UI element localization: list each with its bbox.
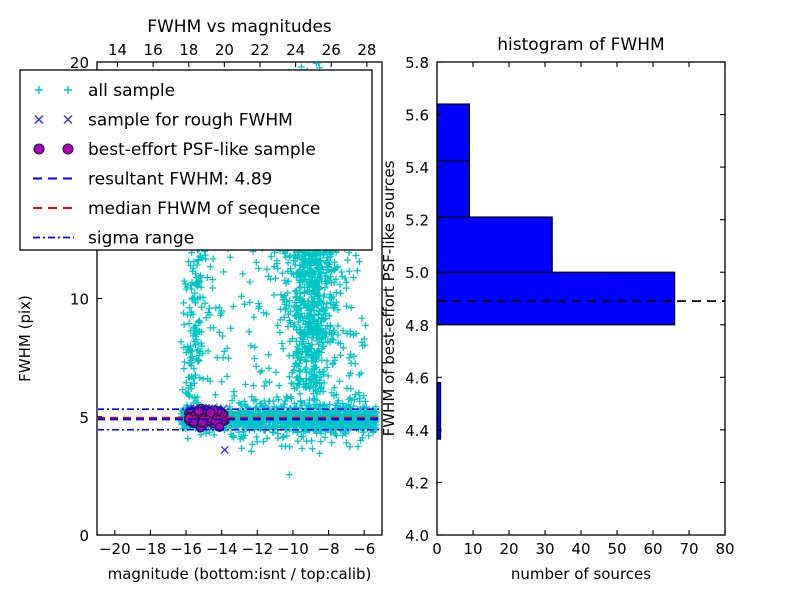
left-top-tick-label: 22 (250, 41, 269, 59)
right-y-tick-label: 4.0 (405, 527, 429, 545)
left-top-tick-label: 24 (286, 41, 305, 59)
histogram-bar (437, 104, 469, 160)
histogram-bar (437, 217, 552, 272)
right-x-tick-label: 80 (715, 540, 734, 558)
right-panel-title: histogram of FWHM (497, 35, 664, 55)
legend: all samplesample for rough FWHMbest-effo… (20, 70, 372, 250)
right-yaxis-label: FWHM of best-effort PSF-like sources (380, 160, 398, 436)
left-bottom-tick-label: −6 (353, 540, 375, 558)
right-x-tick-label: 60 (643, 540, 662, 558)
right-y-tick-label: 4.6 (405, 369, 429, 387)
left-bottom-tick-label: −12 (241, 540, 273, 558)
legend-item-label: best-effort PSF-like sample (88, 140, 316, 160)
right-x-tick-label: 70 (679, 540, 698, 558)
legend-item-label: sigma range (88, 229, 194, 249)
histogram-bar (437, 161, 469, 217)
legend-item-label: sample for rough FWHM (88, 111, 293, 131)
right-panel-histogram: 01020304050607080number of sources4.04.2… (380, 35, 735, 583)
right-y-tick-label: 4.4 (405, 422, 429, 440)
left-top-tick-label: 26 (322, 41, 341, 59)
left-bottom-tick-label: −10 (277, 540, 309, 558)
right-y-tick-label: 5.8 (405, 54, 429, 72)
matplotlib-figure: −20−18−16−14−12−10−8−6magnitude (bottom:… (0, 0, 800, 600)
right-y-tick-label: 4.2 (405, 474, 429, 492)
legend-marker-circle-icon (63, 144, 73, 154)
left-bottom-tick-label: −8 (318, 540, 340, 558)
left-bottom-tick-label: −18 (135, 540, 167, 558)
figure-canvas: −20−18−16−14−12−10−8−6magnitude (bottom:… (0, 0, 800, 600)
right-x-tick-label: 50 (607, 540, 626, 558)
right-x-tick-label: 20 (499, 540, 518, 558)
left-top-tick-label: 20 (215, 41, 234, 59)
right-x-tick-label: 0 (432, 540, 442, 558)
left-bottom-tick-label: −16 (170, 540, 202, 558)
left-top-tick-label: 28 (357, 41, 376, 59)
legend-box (20, 70, 372, 250)
left-top-tick-label: 16 (144, 41, 163, 59)
left-top-tick-label: 18 (179, 41, 198, 59)
left-bottom-tick-label: −14 (206, 540, 238, 558)
left-xaxis-label: magnitude (bottom:isnt / top:calib) (108, 565, 372, 583)
right-y-tick-label: 5.6 (405, 107, 429, 125)
left-bottom-tick-label: −20 (99, 540, 131, 558)
left-y-tick-label: 20 (70, 54, 89, 72)
right-x-tick-label: 40 (571, 540, 590, 558)
left-y-tick-label: 0 (79, 527, 89, 545)
right-y-tick-label: 4.8 (405, 317, 429, 335)
right-x-tick-label: 10 (463, 540, 482, 558)
left-y-tick-label: 5 (79, 409, 89, 427)
left-yaxis-label: FWHM (pix) (16, 295, 34, 382)
psf-sample-point (194, 407, 202, 415)
right-y-tick-label: 5.4 (405, 159, 429, 177)
right-x-tick-label: 30 (535, 540, 554, 558)
legend-item-label: median FHWM of sequence (88, 199, 320, 219)
right-y-tick-label: 5.0 (405, 264, 429, 282)
histogram-bar (437, 272, 675, 325)
left-top-tick-label: 14 (108, 41, 127, 59)
right-xaxis-label: number of sources (511, 565, 651, 583)
left-y-tick-label: 10 (70, 291, 89, 309)
legend-marker-circle-icon (34, 144, 44, 154)
legend-item-label: resultant FWHM: 4.89 (88, 170, 272, 190)
legend-item-label: all sample (88, 81, 175, 101)
right-y-tick-label: 5.2 (405, 212, 429, 230)
left-panel-title: FWHM vs magnitudes (147, 17, 332, 37)
